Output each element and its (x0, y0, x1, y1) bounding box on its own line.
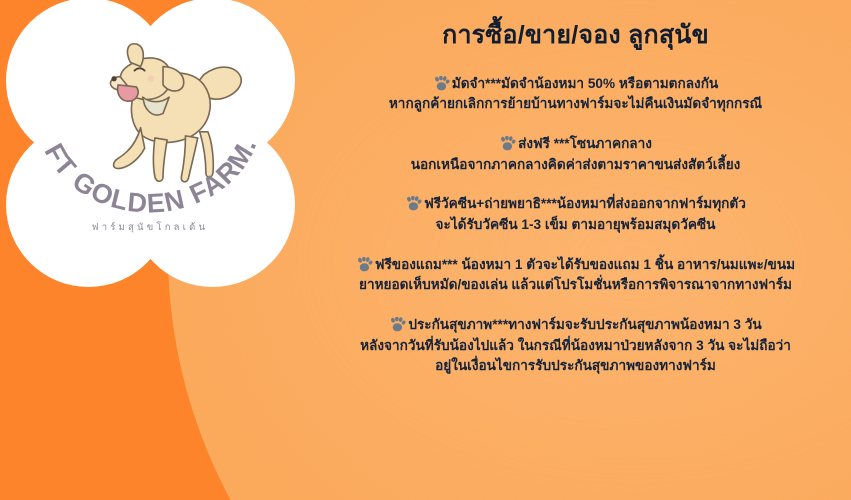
promo-graphic: FT GOLDEN FARM. ฟาร์มสุนัขโกลเด้น การซื้… (0, 0, 851, 500)
logo-badge: FT GOLDEN FARM. ฟาร์มสุนัขโกลเด้น (2, 0, 298, 308)
paw-icon (389, 317, 406, 332)
promo-content: การซื้อ/ขาย/จอง ลูกสุนัข มัดจำ***มัดจำน้… (300, 0, 851, 500)
bullet-text: นอกเหนือจากภาคกลางคิดค่าส่งตามราคาขนส่งส… (306, 155, 845, 176)
brand-sub-thai: ฟาร์มสุนัขโกลเด้น (2, 220, 298, 235)
bullet-text: ยาหยอดเห็บหมัด/ของเล่น แล้วแต่โปรโมชั่นห… (306, 275, 845, 296)
brand-arc-label: FT GOLDEN FARM. (39, 134, 263, 219)
bullet-text: อยู่ในเงื่อนไขการรับประกันสุขภาพของทางฟา… (306, 356, 845, 377)
page-title: การซื้อ/ขาย/จอง ลูกสุนัข (306, 0, 845, 50)
logo-content: FT GOLDEN FARM. ฟาร์มสุนัขโกลเด้น (2, 0, 298, 308)
brand-arc-text: FT GOLDEN FARM. (2, 0, 298, 308)
bullet-text: ฟรีวัคซีน+ถ่ายพยาธิ***น้องหมาที่ส่งออกจา… (424, 196, 746, 211)
bullet-text: ประกันสุขภาพ***ทางฟาร์มจะรับประกันสุขภาพ… (408, 317, 761, 332)
paw-icon (499, 136, 516, 151)
list-item: มัดจำ***มัดจำน้องหมา 50% หรือตามตกลงกัน … (306, 74, 845, 115)
bullet-text: มัดจำ***มัดจำน้องหมา 50% หรือตามตกลงกัน (452, 76, 718, 91)
paw-icon (356, 257, 373, 272)
bullet-text: ฟรีของแถม*** น้องหมา 1 ตัวจะได้รับของแถม… (375, 257, 795, 272)
svg-text:FT GOLDEN FARM.: FT GOLDEN FARM. (39, 134, 263, 219)
bullet-text: ส่งฟรี ***โซนภาคกลาง (518, 136, 652, 151)
benefits-list: มัดจำ***มัดจำน้องหมา 50% หรือตามตกลงกัน … (306, 74, 845, 377)
bullet-text: หลังจากวันที่รับน้องไปแล้ว ในกรณีที่น้อง… (306, 336, 845, 357)
bullet-text: จะได้รับวัคซีน 1-3 เข็ม ตามอายุพร้อมสมุด… (306, 215, 845, 236)
paw-icon (405, 196, 422, 211)
list-item: ประกันสุขภาพ***ทางฟาร์มจะรับประกันสุขภาพ… (306, 315, 845, 377)
bullet-line: ฟรีของแถม*** น้องหมา 1 ตัวจะได้รับของแถม… (306, 255, 845, 276)
bullet-line: ฟรีวัคซีน+ถ่ายพยาธิ***น้องหมาที่ส่งออกจา… (306, 194, 845, 215)
list-item: ส่งฟรี ***โซนภาคกลาง นอกเหนือจากภาคกลางค… (306, 134, 845, 175)
list-item: ฟรีของแถม*** น้องหมา 1 ตัวจะได้รับของแถม… (306, 255, 845, 296)
list-item: ฟรีวัคซีน+ถ่ายพยาธิ***น้องหมาที่ส่งออกจา… (306, 194, 845, 235)
paw-icon (433, 76, 450, 91)
bullet-line: ประกันสุขภาพ***ทางฟาร์มจะรับประกันสุขภาพ… (306, 315, 845, 336)
bullet-line: ส่งฟรี ***โซนภาคกลาง (306, 134, 845, 155)
bullet-text: หากลูกค้ายกเลิกการย้ายบ้านทางฟาร์มจะไม่ค… (306, 94, 845, 115)
bullet-line: มัดจำ***มัดจำน้องหมา 50% หรือตามตกลงกัน (306, 74, 845, 95)
